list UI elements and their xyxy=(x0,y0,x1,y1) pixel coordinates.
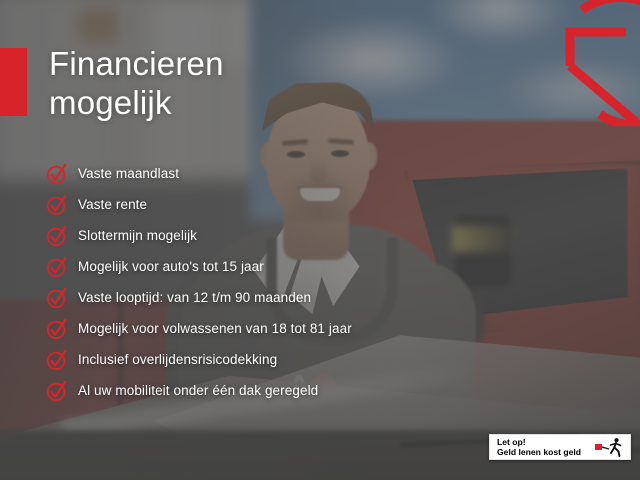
list-item: Vaste maandlast xyxy=(46,158,352,189)
list-item: Slottermijn mogelijk xyxy=(46,220,352,251)
benefit-label: Vaste looptijd: van 12 t/m 90 maanden xyxy=(78,290,311,305)
red-accent-block xyxy=(0,48,27,116)
list-item: Al uw mobiliteit onder één dak geregeld xyxy=(46,375,352,406)
check-circle-icon xyxy=(46,225,68,247)
list-item: Mogelijk voor auto's tot 15 jaar xyxy=(46,251,352,282)
check-circle-icon xyxy=(46,287,68,309)
check-circle-icon xyxy=(46,194,68,216)
check-circle-icon xyxy=(46,318,68,340)
benefit-label: Vaste maandlast xyxy=(78,166,179,181)
benefit-label: Mogelijk voor volwassenen van 18 tot 81 … xyxy=(78,321,352,336)
check-circle-icon xyxy=(46,256,68,278)
benefit-label: Slottermijn mogelijk xyxy=(78,228,197,243)
list-item: Mogelijk voor volwassenen van 18 tot 81 … xyxy=(46,313,352,344)
check-circle-icon xyxy=(46,163,68,185)
benefit-label: Mogelijk voor auto's tot 15 jaar xyxy=(78,259,264,274)
list-item: Vaste rente xyxy=(46,189,352,220)
warning-text: Let op! Geld lenen kost geld xyxy=(497,437,595,458)
financing-promo-banner: A Financieren mogelijk Vaste maandlas xyxy=(0,0,640,480)
benefits-list: Vaste maandlast Vaste rente Slottermijn … xyxy=(46,158,352,406)
check-circle-icon xyxy=(46,349,68,371)
benefit-label: Al uw mobiliteit onder één dak geregeld xyxy=(78,383,318,398)
list-item: Vaste looptijd: van 12 t/m 90 maanden xyxy=(46,282,352,313)
page-title: Financieren mogelijk xyxy=(49,44,224,122)
check-circle-icon xyxy=(46,380,68,402)
walking-person-warning-icon xyxy=(595,437,625,457)
brand-arc-logo-icon xyxy=(548,0,640,126)
benefit-label: Vaste rente xyxy=(78,197,147,212)
list-item: Inclusief overlijdensrisicodekking xyxy=(46,344,352,375)
benefit-label: Inclusief overlijdensrisicodekking xyxy=(78,352,277,367)
status-badge: Let op! Geld lenen kost geld xyxy=(489,434,631,460)
